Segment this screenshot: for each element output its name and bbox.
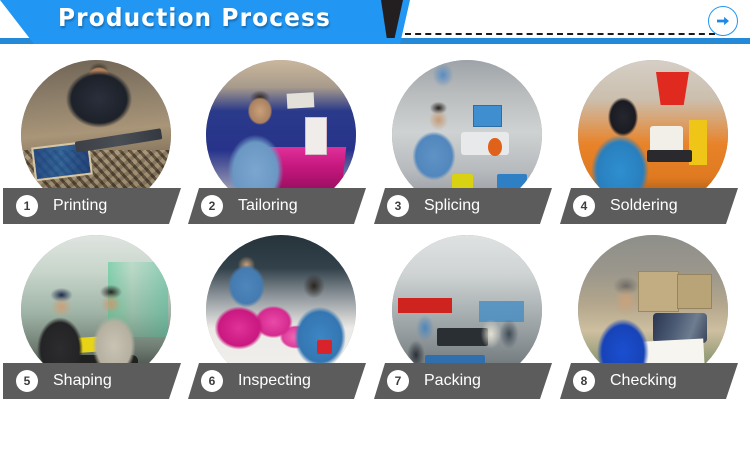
step-label-text: Shaping — [53, 372, 112, 390]
step-label-bar: 5 Shaping — [3, 363, 181, 399]
step-label-text: Checking — [610, 372, 677, 390]
step-photo-tailoring — [206, 60, 356, 210]
process-step-card[interactable]: 8 Checking — [560, 227, 746, 402]
process-row-1: 1 Printing 2 Tailoring 3 Splicing — [0, 52, 750, 227]
step-label-bar: 3 Splicing — [374, 188, 552, 224]
step-label-bar: 4 Soldering — [560, 188, 738, 224]
process-step-card[interactable]: 4 Soldering — [560, 52, 746, 227]
process-step-card[interactable]: 1 Printing — [3, 52, 189, 227]
step-label-text: Inspecting — [238, 372, 311, 390]
step-number-badge: 4 — [573, 195, 595, 217]
step-label-bar: 7 Packing — [374, 363, 552, 399]
step-photo-splicing — [392, 60, 542, 210]
step-label-text: Packing — [424, 372, 481, 390]
step-number-badge: 3 — [387, 195, 409, 217]
process-step-card[interactable]: 2 Tailoring — [188, 52, 374, 227]
header-dashed-rule — [405, 33, 715, 35]
step-label-text: Soldering — [610, 197, 678, 215]
process-step-card[interactable]: 3 Splicing — [374, 52, 560, 227]
step-label-bar: 1 Printing — [3, 188, 181, 224]
step-label-text: Printing — [53, 197, 107, 215]
step-label-bar: 8 Checking — [560, 363, 738, 399]
step-label-bar: 2 Tailoring — [188, 188, 366, 224]
step-number-badge: 7 — [387, 370, 409, 392]
step-number-badge: 6 — [201, 370, 223, 392]
step-label-text: Tailoring — [238, 197, 298, 215]
step-label-bar: 6 Inspecting — [188, 363, 366, 399]
process-step-card[interactable]: 6 Inspecting — [188, 227, 374, 402]
step-number-badge: 2 — [201, 195, 223, 217]
step-number-badge: 5 — [16, 370, 38, 392]
page-title: Production Process — [58, 3, 331, 32]
process-step-card[interactable]: 7 Packing — [374, 227, 560, 402]
process-step-card[interactable]: 5 Shaping — [3, 227, 189, 402]
step-photo-printing — [21, 60, 171, 210]
step-photo-shaping — [21, 235, 171, 385]
process-steps-grid: 1 Printing 2 Tailoring 3 Splicing — [0, 52, 750, 452]
step-photo-packing — [392, 235, 542, 385]
step-photo-inspecting — [206, 235, 356, 385]
step-photo-checking — [578, 235, 728, 385]
step-number-badge: 8 — [573, 370, 595, 392]
step-number-badge: 1 — [16, 195, 38, 217]
page-header: Production Process — [0, 0, 750, 52]
process-row-2: 5 Shaping 6 Inspecting 7 Packing — [0, 227, 750, 402]
step-photo-soldering — [578, 60, 728, 210]
arrow-right-circle-icon[interactable] — [708, 6, 738, 36]
step-label-text: Splicing — [424, 197, 480, 215]
